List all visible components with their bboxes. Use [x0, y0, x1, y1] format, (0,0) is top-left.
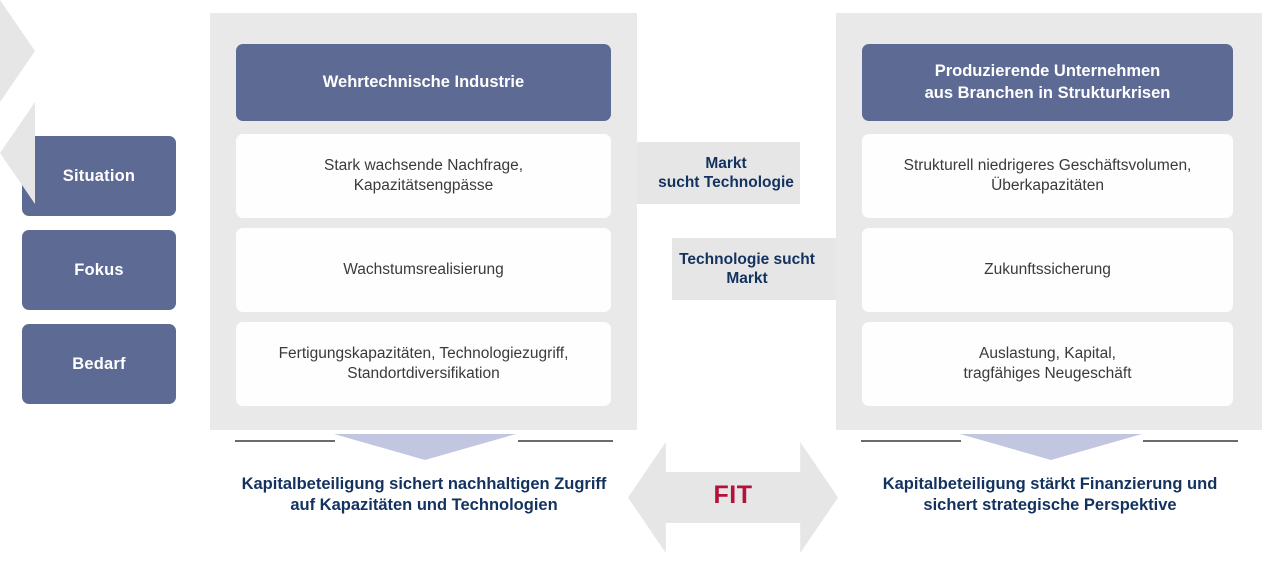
conclusion-right: Kapitalbeteiligung stärkt Finanzierung u… [850, 474, 1250, 517]
card-right-fokus: Zukunftssicherung [862, 228, 1233, 312]
card-right-bedarf: Auslastung, Kapital, tragfähiges Neugesc… [862, 322, 1233, 406]
triangle-down-left-icon [334, 434, 516, 460]
card-left-situation: Stark wachsende Nachfrage, Kapazitätseng… [236, 134, 611, 218]
column-header-left: Wehrtechnische Industrie [236, 44, 611, 121]
divider-right-end [1143, 440, 1238, 442]
conclusion-left: Kapitalbeteiligung sichert nachhaltigen … [224, 474, 624, 517]
triangle-down-right-icon [960, 434, 1142, 460]
arrow-left-head-icon [0, 102, 35, 204]
card-left-fokus: Wachstumsrealisierung [236, 228, 611, 312]
row-label-situation: Situation [22, 136, 176, 216]
divider-left-end [518, 440, 613, 442]
diagram-canvas: Situation Fokus Bedarf Wehrtechnische In… [0, 0, 1280, 568]
divider-left-start [235, 440, 335, 442]
card-left-bedarf: Fertigungskapazitäten, Technologiezugrif… [236, 322, 611, 406]
card-right-situation: Strukturell niedrigeres Geschäftsvolumen… [862, 134, 1233, 218]
fit-label: FIT [628, 481, 838, 510]
divider-right-start [861, 440, 961, 442]
column-header-right: Produzierende Unternehmen aus Branchen i… [862, 44, 1233, 121]
arrow-right-head-icon [0, 0, 35, 102]
arrow-label-technologie-sucht-markt: Technologie sucht Markt [666, 250, 828, 289]
row-label-bedarf: Bedarf [22, 324, 176, 404]
arrow-label-markt-sucht-technologie: Markt sucht Technologie [645, 154, 807, 193]
row-label-fokus: Fokus [22, 230, 176, 310]
